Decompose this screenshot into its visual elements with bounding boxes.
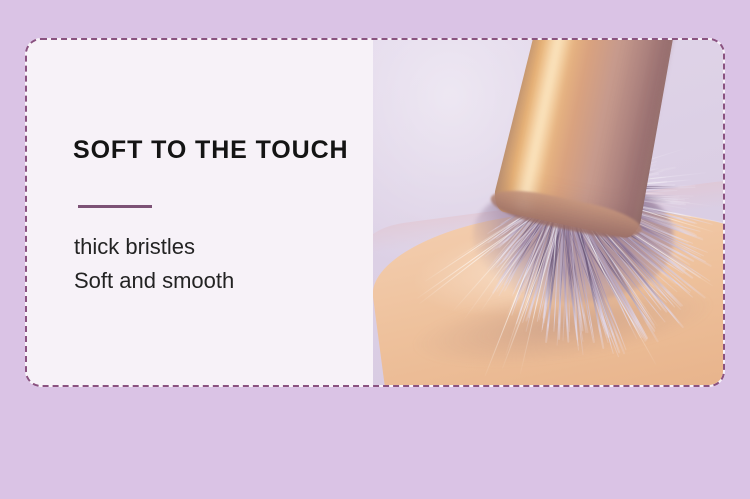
text-panel: SOFT TO THE TOUCH thick bristles Soft an… [27, 40, 373, 385]
product-photo [373, 40, 723, 385]
feature-line-1: thick bristles [74, 230, 234, 264]
feature-description: thick bristles Soft and smooth [74, 230, 234, 298]
feature-line-2: Soft and smooth [74, 264, 234, 298]
page-title: SOFT TO THE TOUCH [73, 136, 349, 165]
title-divider [78, 205, 152, 208]
product-feature-banner: SOFT TO THE TOUCH thick bristles Soft an… [0, 0, 750, 499]
feature-card: SOFT TO THE TOUCH thick bristles Soft an… [25, 38, 725, 387]
